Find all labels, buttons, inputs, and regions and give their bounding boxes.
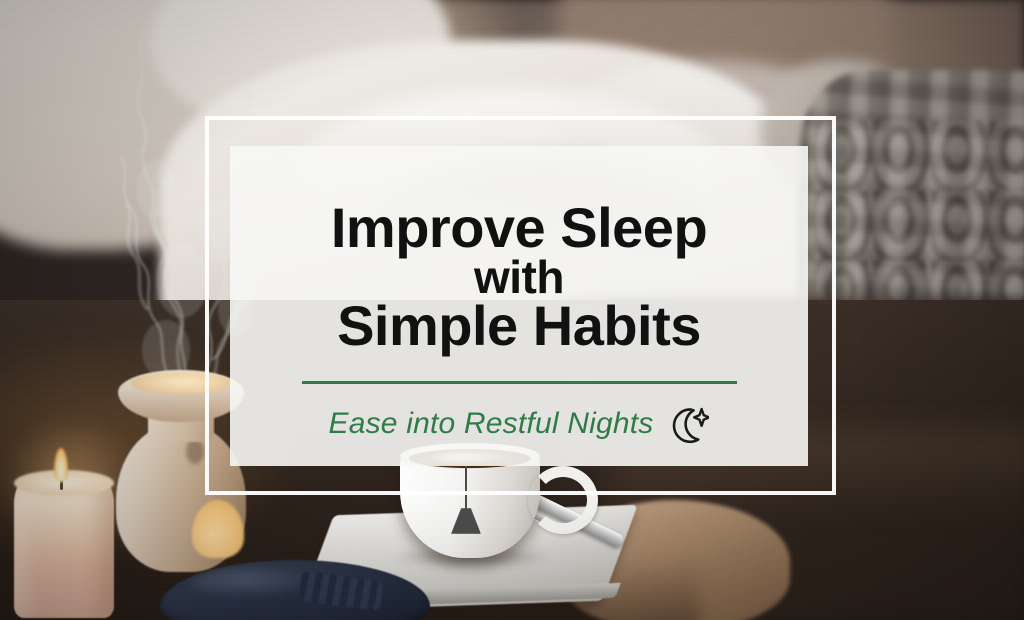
- lit-pillar-candle: [14, 478, 114, 618]
- cup-handle: [528, 466, 598, 534]
- subtitle-text: Ease into Restful Nights: [329, 407, 654, 441]
- poster-canvas: Improve Sleep with Simple Habits Ease in…: [0, 0, 1024, 620]
- green-divider: [302, 381, 737, 384]
- burner-bowl-oil: [131, 372, 231, 394]
- content-panel: Improve Sleep with Simple Habits Ease in…: [230, 146, 808, 466]
- crescent-moon-with-sparkle-icon: [667, 404, 709, 444]
- page-title-line-2: with: [230, 255, 808, 299]
- page-title-line-1: Improve Sleep: [230, 201, 808, 255]
- subtitle-row: Ease into Restful Nights: [329, 404, 710, 444]
- teabag-string: [465, 462, 467, 512]
- page-title-line-3: Simple Habits: [230, 299, 808, 353]
